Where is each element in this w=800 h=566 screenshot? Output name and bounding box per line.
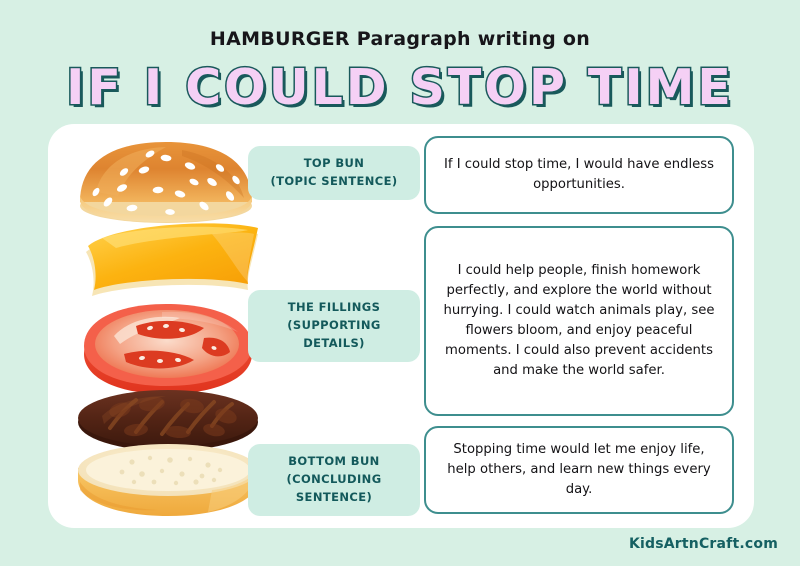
page-title: IF I COULD STOP TIME: [0, 62, 800, 113]
textbox-concluding-sentence[interactable]: Stopping time would let me enjoy life, h…: [424, 426, 734, 514]
textbox-topic-sentence[interactable]: If I could stop time, I would have endle…: [424, 136, 734, 214]
textbox-supporting-details[interactable]: I could help people, finish homework per…: [424, 226, 734, 416]
top-bun-graphic: [80, 142, 252, 223]
cheese-slice-graphic: [86, 223, 258, 296]
textbox-concluding-sentence-text: Stopping time would let me enjoy life, h…: [438, 440, 720, 500]
label-column: TOP BUN (TOPIC SENTENCE) THE FILLINGS (S…: [244, 124, 434, 528]
subtitle: HAMBURGER Paragraph writing on: [0, 28, 800, 50]
label-fillings: THE FILLINGS (SUPPORTING DETAILS): [248, 290, 420, 362]
label-top-bun: TOP BUN (TOPIC SENTENCE): [248, 146, 420, 200]
text-column: If I could stop time, I would have endle…: [424, 124, 744, 528]
content-card: TOP BUN (TOPIC SENTENCE) THE FILLINGS (S…: [48, 124, 754, 528]
textbox-topic-sentence-text: If I could stop time, I would have endle…: [438, 155, 720, 195]
label-fillings-text: THE FILLINGS (SUPPORTING DETAILS): [287, 299, 380, 352]
textbox-supporting-details-text: I could help people, finish homework per…: [438, 261, 720, 381]
bottom-bun-graphic: [78, 444, 258, 516]
label-top-bun-text: TOP BUN (TOPIC SENTENCE): [270, 155, 397, 191]
tomato-slice-graphic: [84, 304, 252, 394]
label-bottom-bun: BOTTOM BUN (CONCLUDING SENTENCE): [248, 444, 420, 516]
label-bottom-bun-text: BOTTOM BUN (CONCLUDING SENTENCE): [286, 453, 381, 506]
beef-patty-graphic: [78, 390, 258, 451]
watermark: KidsArtnCraft.com: [629, 536, 778, 552]
